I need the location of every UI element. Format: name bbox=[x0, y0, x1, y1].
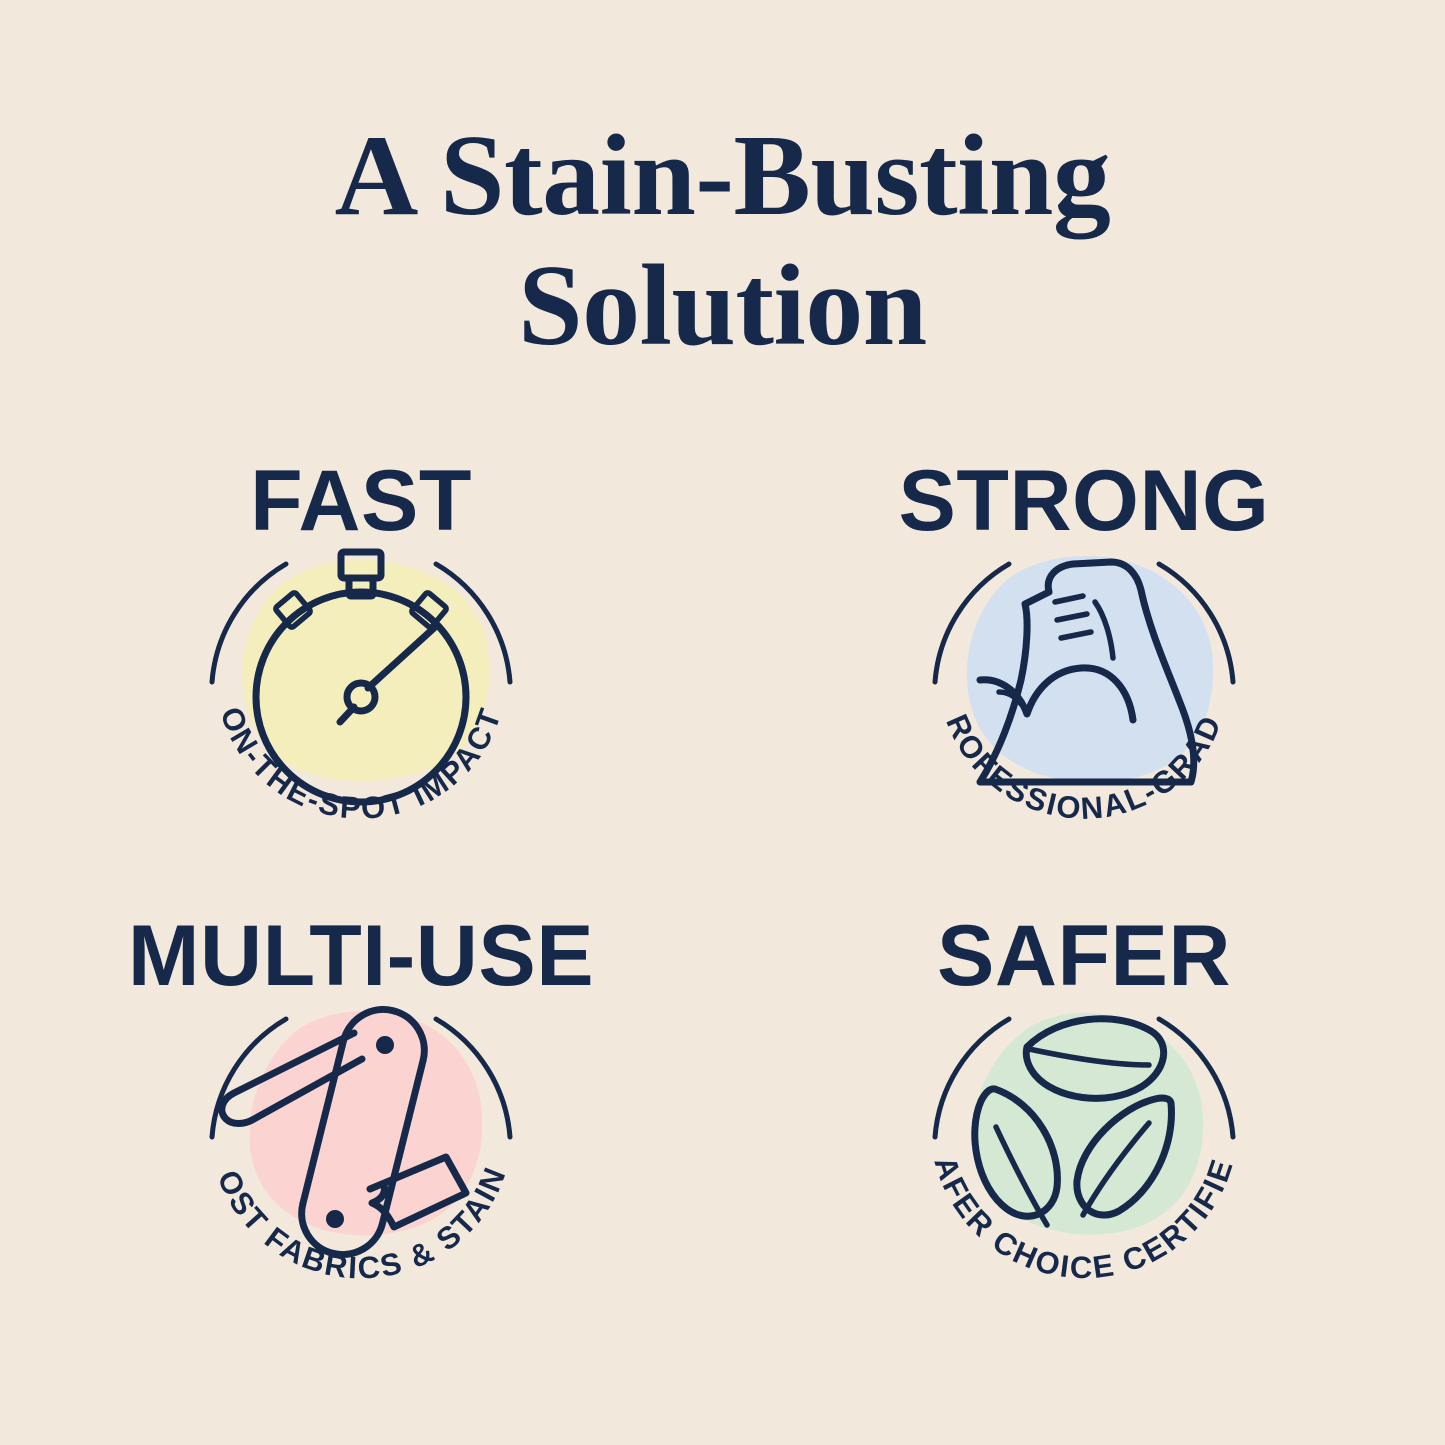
page-title-line-2: Solution bbox=[0, 242, 1445, 372]
badge-heading-strong: STRONG bbox=[898, 453, 1269, 549]
badge-heading-fast: FAST bbox=[250, 453, 472, 549]
badge-strong[interactable]: STRONG bbox=[723, 452, 1445, 897]
badge-heading-safer: SAFER bbox=[937, 908, 1231, 1004]
badge-multi-use[interactable]: MULTI-USE MOST FABRICS & bbox=[0, 907, 723, 1352]
benefit-badge-grid: FAST bbox=[0, 452, 1445, 1352]
page-title: A Stain-Busting Solution bbox=[0, 112, 1445, 372]
badge-heading-multi-use: MULTI-USE bbox=[128, 908, 594, 1004]
badge-fast[interactable]: FAST bbox=[0, 452, 723, 897]
infographic-page: A Stain-Busting Solution FAST bbox=[0, 0, 1445, 1445]
page-title-line-1: A Stain-Busting bbox=[0, 112, 1445, 242]
badge-safer[interactable]: SAFER SAFER CHOICE CER bbox=[723, 907, 1445, 1352]
